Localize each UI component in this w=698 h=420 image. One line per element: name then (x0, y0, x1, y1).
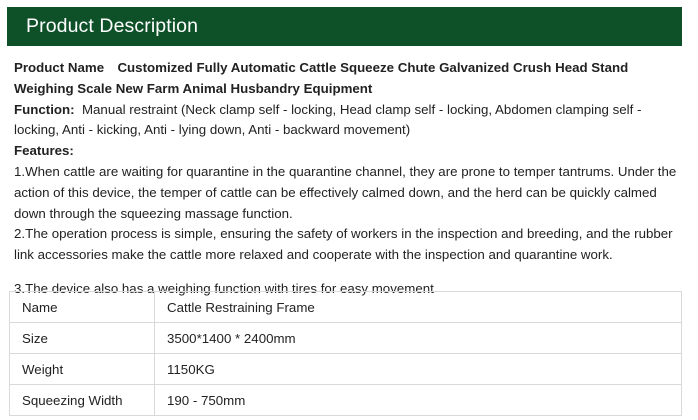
spec-label-cell: Weight (10, 354, 155, 385)
product-description-page: Product Description Product Name Customi… (0, 0, 698, 420)
spec-label-cell: Name (10, 292, 155, 323)
spec-value-cell: 3500*1400 * 2400mm (155, 323, 682, 354)
feature-item-1: 1.When cattle are waiting for quarantine… (14, 162, 683, 224)
features-label: Features: (14, 143, 74, 158)
table-row: Weight 1150KG (10, 354, 682, 385)
specification-table-body: Name Cattle Restraining Frame Size 3500*… (10, 292, 682, 416)
table-row: Squeezing Width 190 - 750mm (10, 385, 682, 416)
spec-value-cell: Cattle Restraining Frame (155, 292, 682, 323)
spec-label-cell: Squeezing Width (10, 385, 155, 416)
product-name-label: Product Name (14, 60, 117, 75)
function-paragraph: Function: Manual restraint (Neck clamp s… (14, 100, 683, 142)
function-label: Function: (14, 102, 75, 117)
spec-value-cell: 190 - 750mm (155, 385, 682, 416)
table-row: Size 3500*1400 * 2400mm (10, 323, 682, 354)
function-value: Manual restraint (Neck clamp self - lock… (14, 102, 641, 138)
product-name-paragraph: Product Name Customized Fully Automatic … (14, 58, 683, 100)
section-header-banner: Product Description (7, 7, 682, 46)
page-title: Product Description (7, 17, 198, 37)
spec-label-cell: Size (10, 323, 155, 354)
features-heading: Features: (14, 141, 683, 162)
function-spacer (75, 102, 82, 117)
specification-table: Name Cattle Restraining Frame Size 3500*… (9, 291, 682, 416)
table-row: Name Cattle Restraining Frame (10, 292, 682, 323)
description-body: Product Name Customized Fully Automatic … (14, 58, 683, 300)
spec-value-cell: 1150KG (155, 354, 682, 385)
feature-item-2: 2.The operation process is simple, ensur… (14, 224, 683, 266)
